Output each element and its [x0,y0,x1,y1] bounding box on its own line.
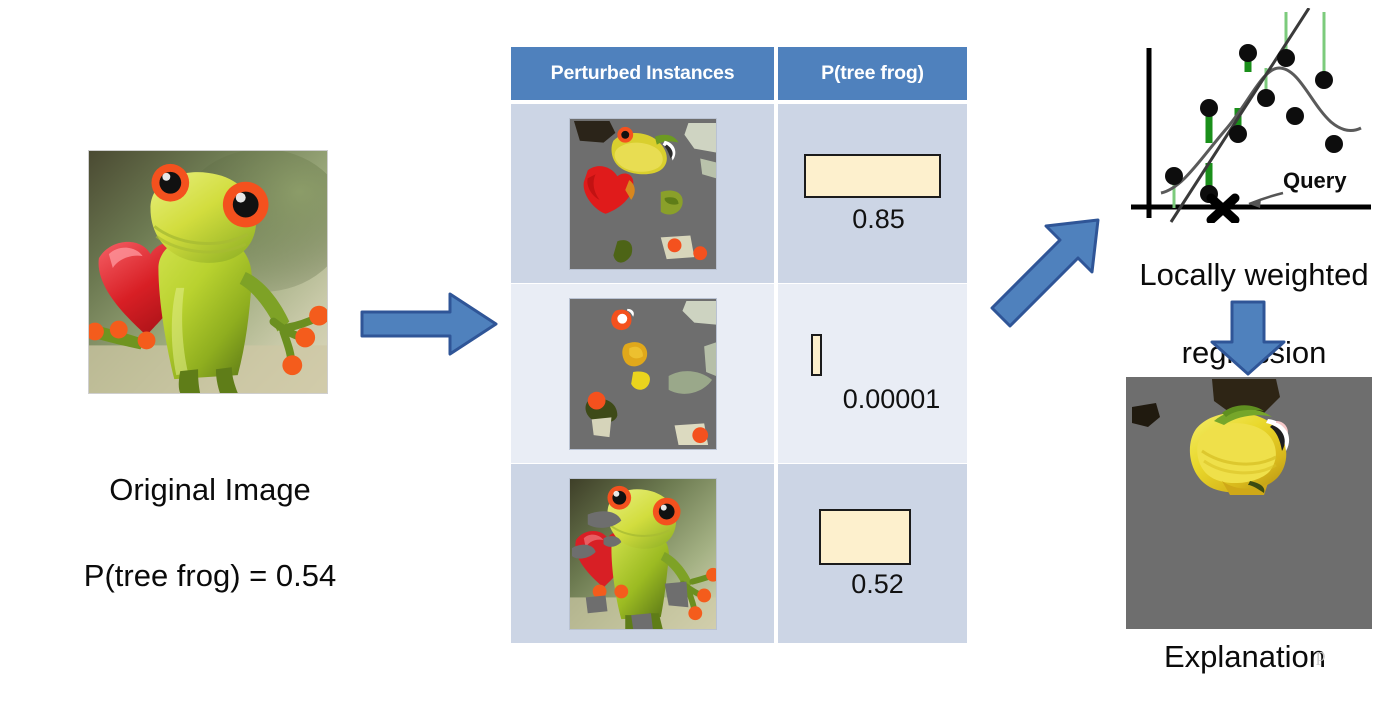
table-header-row: Perturbed Instances P(tree frog) [511,47,967,100]
table-header-probability: P(tree frog) [778,47,967,100]
perturbed-instance-cell [511,104,774,283]
residual-bars-dark [1209,53,1248,194]
perturbed-image-1 [569,118,717,270]
table-body: 0.85 [511,104,967,643]
perturbed-instance-cell [511,464,774,643]
locally-weighted-regression-chart: Query [1131,8,1399,223]
explanation-caption: Explanation [1090,638,1400,676]
original-image [88,150,328,394]
regression-caption-line-1: Locally weighted [1108,255,1400,294]
regression-plot-svg: Query [1131,8,1399,223]
probability-bar [819,509,911,565]
original-image-caption: Original Image P(tree frog) = 0.54 [0,425,420,640]
arrow-down-icon [1198,298,1298,376]
to-explanation-arrow [1198,298,1298,376]
explanation-image-container [1126,377,1372,629]
perturbed-instances-table: Perturbed Instances P(tree frog) [511,47,967,662]
arrow-up-right-icon [986,212,1106,332]
watermark-text: p [1316,645,1326,667]
probability-value: 0.85 [852,204,905,234]
pipeline-arrow-right [358,288,500,360]
table-row: 0.52 [511,464,967,643]
probability-value: 0.52 [851,569,904,599]
query-label: Query [1283,168,1347,193]
explanation-image [1126,377,1372,629]
probability-value: 0.00001 [843,384,941,414]
probability-bar [811,334,822,376]
perturbed-image-3 [569,478,717,630]
probability-cell: 0.85 [778,104,967,283]
probability-cell: 0.00001 [778,284,967,463]
original-caption-line-1: Original Image [0,468,420,511]
perturbed-image-2 [569,298,717,450]
to-regression-arrow [986,212,1106,332]
probability-bar [804,154,941,198]
original-caption-line-2: P(tree frog) = 0.54 [0,554,420,597]
arrow-right-icon [358,288,500,360]
table-row: 0.00001 [511,284,967,463]
perturbed-instance-cell [511,284,774,463]
table-row: 0.85 [511,104,967,283]
table-header-perturbed-instances: Perturbed Instances [511,47,774,100]
original-image-container [88,150,328,394]
probability-cell: 0.52 [778,464,967,643]
